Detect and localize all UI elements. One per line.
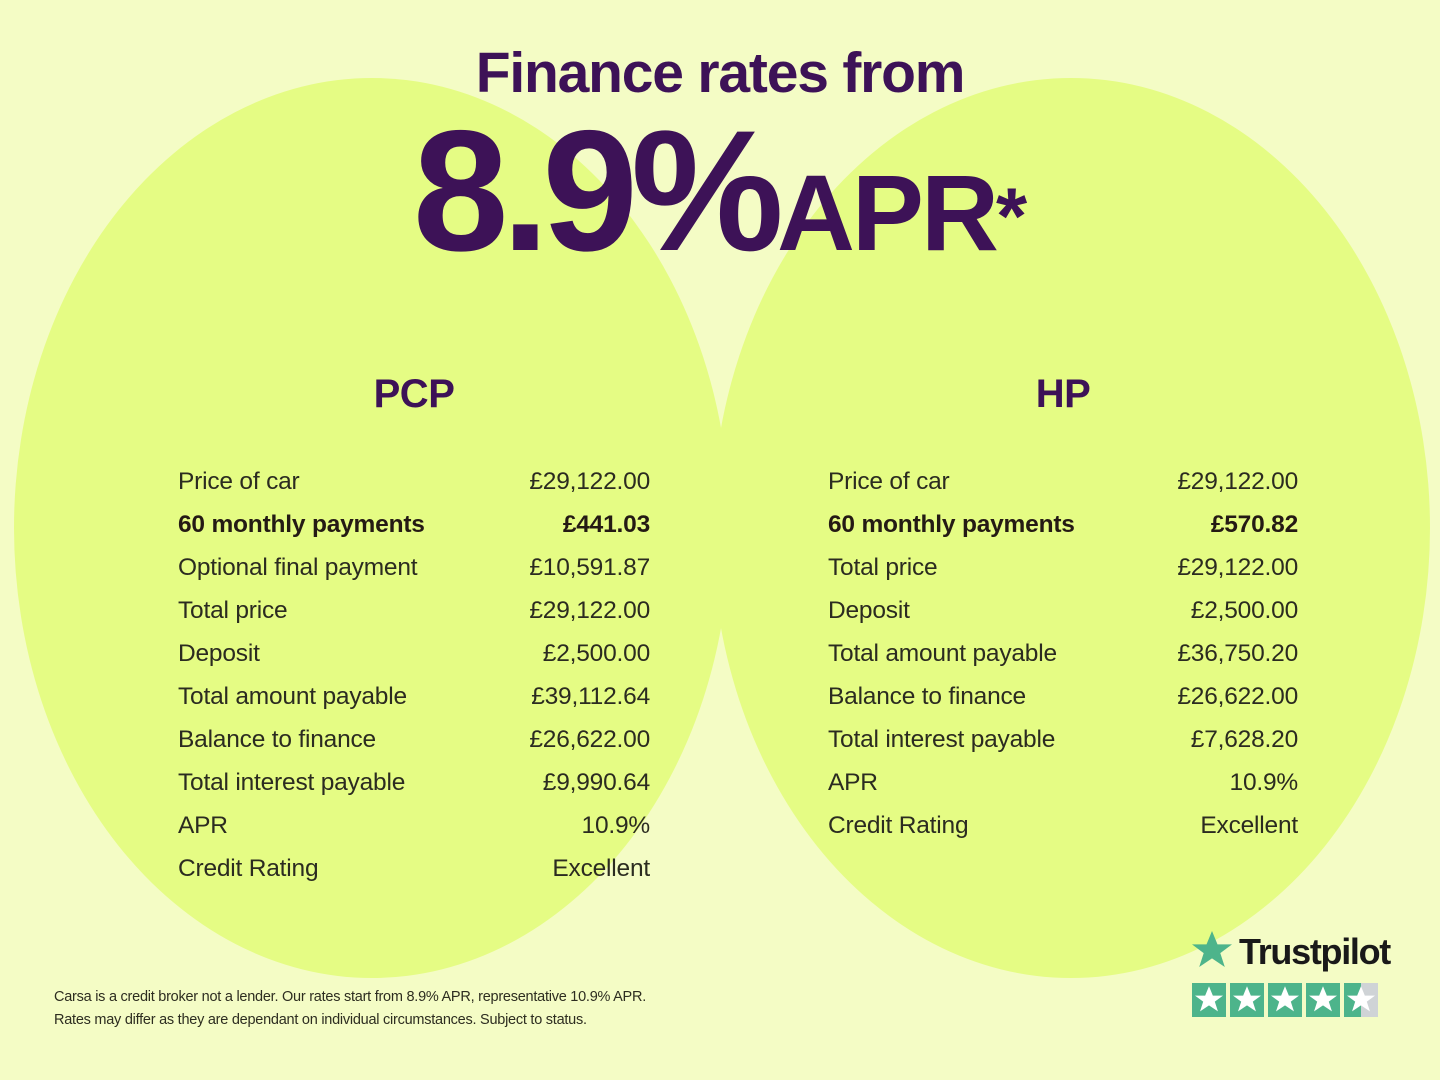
row-value: £29,122.00 xyxy=(529,468,650,496)
table-row: Total price£29,122.00 xyxy=(178,597,650,640)
row-label: Total price xyxy=(178,597,287,625)
disclaimer-line-2: Rates may differ as they are dependant o… xyxy=(54,1009,814,1032)
row-value: £9,990.64 xyxy=(543,769,650,797)
row-label: Price of car xyxy=(178,468,300,496)
row-label: Total amount payable xyxy=(178,683,407,711)
row-label: Total amount payable xyxy=(828,640,1057,668)
row-value: £2,500.00 xyxy=(543,640,650,668)
row-value: £29,122.00 xyxy=(1177,554,1298,582)
row-value: Excellent xyxy=(1200,812,1298,840)
row-label: Balance to finance xyxy=(828,683,1026,711)
row-label: Optional final payment xyxy=(178,554,417,582)
table-row: Total interest payable£7,628.20 xyxy=(828,726,1298,769)
table-row: APR10.9% xyxy=(828,769,1298,812)
row-value: £29,122.00 xyxy=(529,597,650,625)
row-label: Total interest payable xyxy=(178,769,405,797)
row-label: Credit Rating xyxy=(828,812,968,840)
row-value: £2,500.00 xyxy=(1191,597,1298,625)
row-label: 60 monthly payments xyxy=(178,511,425,539)
table-row: Price of car£29,122.00 xyxy=(828,468,1298,511)
row-value: Excellent xyxy=(552,855,650,883)
plan-panel-pcp: PCP Price of car£29,122.0060 monthly pay… xyxy=(178,372,650,898)
row-label: 60 monthly payments xyxy=(828,511,1075,539)
trustpilot-wordmark: Trustpilot xyxy=(1192,930,1392,974)
row-value: £29,122.00 xyxy=(1177,468,1298,496)
trustpilot-star-icon xyxy=(1192,931,1232,974)
table-row: Balance to finance£26,622.00 xyxy=(828,683,1298,726)
table-row: Balance to finance£26,622.00 xyxy=(178,726,650,769)
table-row: Deposit£2,500.00 xyxy=(178,640,650,683)
trustpilot-badge[interactable]: Trustpilot xyxy=(1192,930,1392,1017)
trustpilot-name: Trustpilot xyxy=(1239,934,1390,970)
star-icon-half xyxy=(1344,983,1378,1017)
table-row: APR10.9% xyxy=(178,812,650,855)
star-icon-full xyxy=(1268,983,1302,1017)
plan-rows-hp: Price of car£29,122.0060 monthly payment… xyxy=(828,468,1298,855)
row-value: £7,628.20 xyxy=(1191,726,1298,754)
row-value: £26,622.00 xyxy=(1177,683,1298,711)
row-value: £10,591.87 xyxy=(529,554,650,582)
plan-comparison: PCP Price of car£29,122.0060 monthly pay… xyxy=(0,0,1440,1080)
row-value: £26,622.00 xyxy=(529,726,650,754)
table-row: 60 monthly payments£441.03 xyxy=(178,511,650,554)
row-value: £39,112.64 xyxy=(531,683,650,711)
poster-canvas: Finance rates from 8.9%APR* PCP Price of… xyxy=(0,0,1440,1080)
table-row: Deposit£2,500.00 xyxy=(828,597,1298,640)
star-icon-full xyxy=(1192,983,1226,1017)
table-row: Optional final payment£10,591.87 xyxy=(178,554,650,597)
row-label: Deposit xyxy=(178,640,260,668)
plan-title-hp: HP xyxy=(828,372,1298,434)
row-label: Balance to finance xyxy=(178,726,376,754)
row-label: Total interest payable xyxy=(828,726,1055,754)
row-value: 10.9% xyxy=(582,812,650,840)
star-icon-full xyxy=(1306,983,1340,1017)
row-label: APR xyxy=(828,769,878,797)
trustpilot-rating-stars xyxy=(1192,983,1392,1017)
row-value: £570.82 xyxy=(1211,511,1298,539)
table-row: Total amount payable£39,112.64 xyxy=(178,683,650,726)
table-row: 60 monthly payments£570.82 xyxy=(828,511,1298,554)
plan-rows-pcp: Price of car£29,122.0060 monthly payment… xyxy=(178,468,650,898)
table-row: Total amount payable£36,750.20 xyxy=(828,640,1298,683)
table-row: Total price£29,122.00 xyxy=(828,554,1298,597)
row-label: Price of car xyxy=(828,468,950,496)
disclaimer-text: Carsa is a credit broker not a lender. O… xyxy=(54,986,814,1033)
row-label: Deposit xyxy=(828,597,910,625)
plan-panel-hp: HP Price of car£29,122.0060 monthly paym… xyxy=(828,372,1298,855)
row-label: Credit Rating xyxy=(178,855,318,883)
star-icon-full xyxy=(1230,983,1264,1017)
table-row: Credit RatingExcellent xyxy=(178,855,650,898)
row-label: Total price xyxy=(828,554,937,582)
row-label: APR xyxy=(178,812,228,840)
row-value: £441.03 xyxy=(563,511,650,539)
plan-title-pcp: PCP xyxy=(178,372,650,434)
table-row: Credit RatingExcellent xyxy=(828,812,1298,855)
row-value: 10.9% xyxy=(1230,769,1298,797)
disclaimer-line-1: Carsa is a credit broker not a lender. O… xyxy=(54,986,814,1009)
row-value: £36,750.20 xyxy=(1177,640,1298,668)
table-row: Price of car£29,122.00 xyxy=(178,468,650,511)
table-row: Total interest payable£9,990.64 xyxy=(178,769,650,812)
